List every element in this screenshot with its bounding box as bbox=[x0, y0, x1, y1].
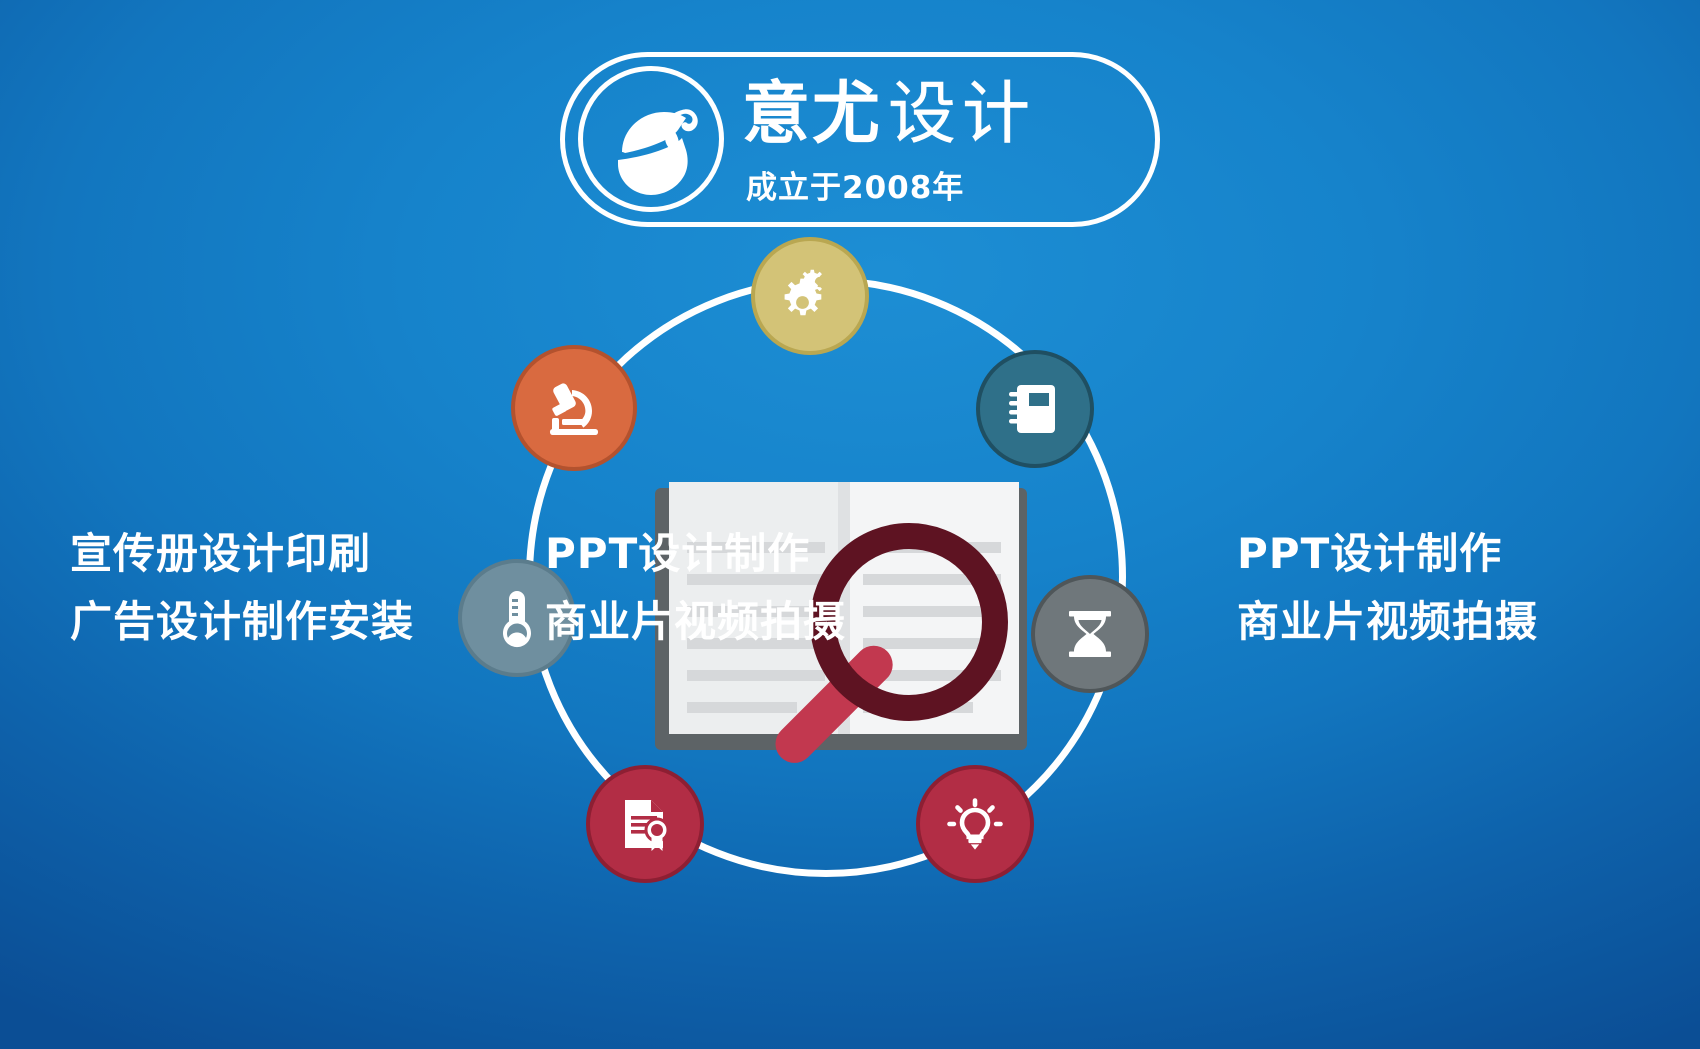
notebook-icon bbox=[1003, 377, 1067, 441]
thermometer-icon bbox=[487, 586, 547, 650]
copy-centre-line-2: 商业片视频拍摄 bbox=[545, 588, 846, 656]
copy-right-line-2: 商业片视频拍摄 bbox=[1237, 588, 1538, 656]
node-gears[interactable] bbox=[751, 237, 869, 355]
node-microscope[interactable] bbox=[511, 345, 637, 471]
copy-left-line-2: 广告设计制作安装 bbox=[70, 588, 414, 656]
slide-canvas: 意尤 设计 成立于2008年 bbox=[0, 0, 1700, 1049]
copy-block-left: 宣传册设计印刷 广告设计制作安装 bbox=[70, 520, 414, 656]
node-notebook[interactable] bbox=[976, 350, 1094, 468]
copy-block-right: PPT设计制作 商业片视频拍摄 bbox=[1237, 520, 1538, 656]
logo-wordmark: 意尤 设计 bbox=[742, 70, 1142, 160]
copy-left-line-1: 宣传册设计印刷 bbox=[70, 520, 414, 588]
copy-block-centre: PPT设计制作 商业片视频拍摄 bbox=[545, 520, 846, 656]
hourglass-icon bbox=[1059, 603, 1121, 665]
logo-name-bold: 意尤 bbox=[742, 81, 882, 149]
copy-right-line-1: PPT设计制作 bbox=[1237, 520, 1538, 588]
logo-name-thin: 设计 bbox=[888, 81, 1036, 149]
logo-tagline: 成立于2008年 bbox=[746, 162, 964, 207]
bird-leaf-mark-icon bbox=[578, 66, 724, 212]
copy-centre-line-1: PPT设计制作 bbox=[545, 520, 846, 588]
gears-icon bbox=[775, 261, 845, 331]
brand-logo: 意尤 设计 成立于2008年 bbox=[560, 52, 1160, 227]
microscope-icon bbox=[538, 372, 610, 444]
